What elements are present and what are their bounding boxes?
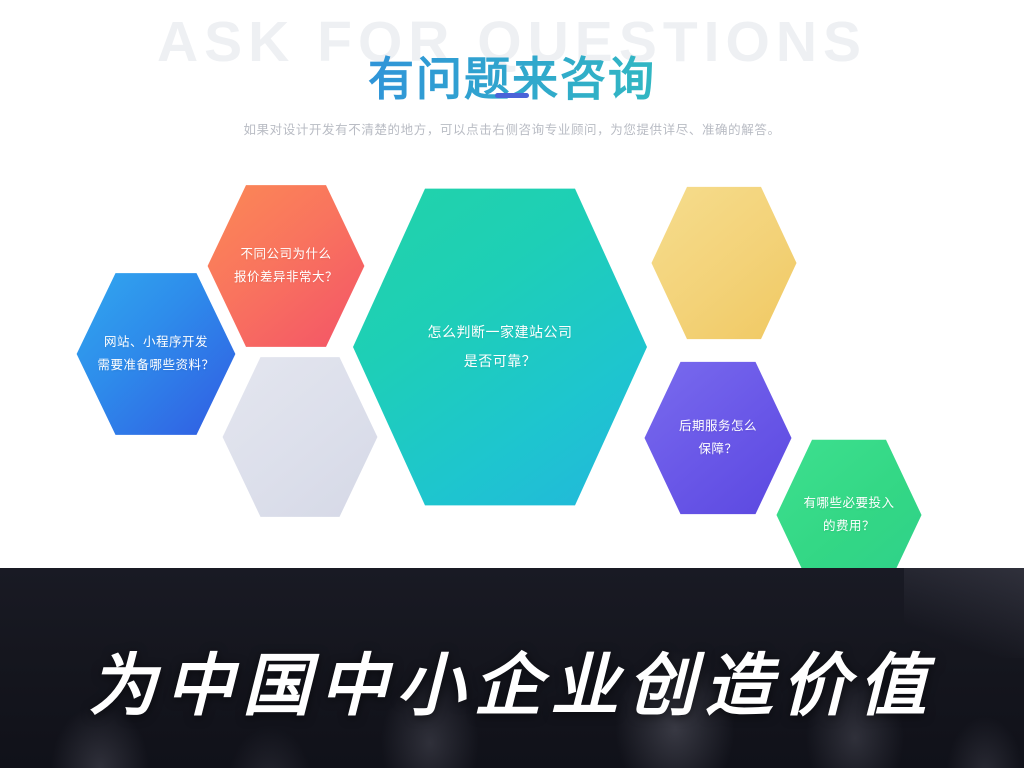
hexagon-website-materials[interactable]: 网站、小程序开发 需要准备哪些资料？ [75, 268, 237, 440]
hexagon-line-2: 报价差异非常大？ [234, 270, 338, 284]
hexagon-line-1: 怎么判断一家建站公司 [428, 324, 573, 340]
page-root: ASK FOR QUESTIONS 有问题来咨询 如果对设计开发有不清楚的地方，… [0, 0, 1024, 768]
hexagon-line-2: 保障？ [698, 442, 737, 456]
hexagon-line-1: 不同公司为什么 [240, 247, 331, 261]
title-divider [495, 93, 529, 98]
hexagon-line-2: 是否可靠？ [464, 353, 537, 369]
hexagon-label: 有哪些必要投入 的费用？ [787, 492, 910, 538]
hexagon-after-sales-service[interactable]: 后期服务怎么 保障？ [643, 357, 793, 519]
hexagon-line-2: 的费用？ [823, 519, 875, 533]
section-slogan-banner: 为中国中小企业创造价值 [0, 568, 1024, 768]
hexagon-line-2: 需要准备哪些资料？ [97, 358, 214, 372]
hexagon-line-1: 网站、小程序开发 [104, 335, 208, 349]
hexagon-decorative-yellow [650, 182, 798, 344]
banner-slogan-text: 为中国中小企业创造价值 [0, 568, 1024, 768]
hexagon-label: 怎么判断一家建站公司 是否可靠？ [412, 318, 589, 377]
hexagon-price-difference[interactable]: 不同公司为什么 报价差异非常大？ [206, 180, 366, 352]
hexagon-label: 网站、小程序开发 需要准备哪些资料？ [81, 331, 230, 377]
hexagon-label: 后期服务怎么 保障？ [663, 415, 773, 461]
hexagon-line-1: 有哪些必要投入 [803, 496, 894, 510]
hexagon-line-1: 后期服务怎么 [679, 419, 757, 433]
hexagon-label: 不同公司为什么 报价差异非常大？ [218, 243, 354, 289]
hexagon-decorative-gray [221, 352, 379, 522]
page-subtitle: 如果对设计开发有不清楚的地方，可以点击右侧咨询专业顾问，为您提供详尽、准确的解答… [0, 119, 1024, 138]
hexagon-cluster: 网站、小程序开发 需要准备哪些资料？ 不同公司为什么 报价差异非常大？ 怎么判断… [0, 160, 1024, 560]
section-header: ASK FOR QUESTIONS 有问题来咨询 如果对设计开发有不清楚的地方，… [0, 0, 1024, 160]
hexagon-reliable-company[interactable]: 怎么判断一家建站公司 是否可靠？ [350, 182, 650, 512]
